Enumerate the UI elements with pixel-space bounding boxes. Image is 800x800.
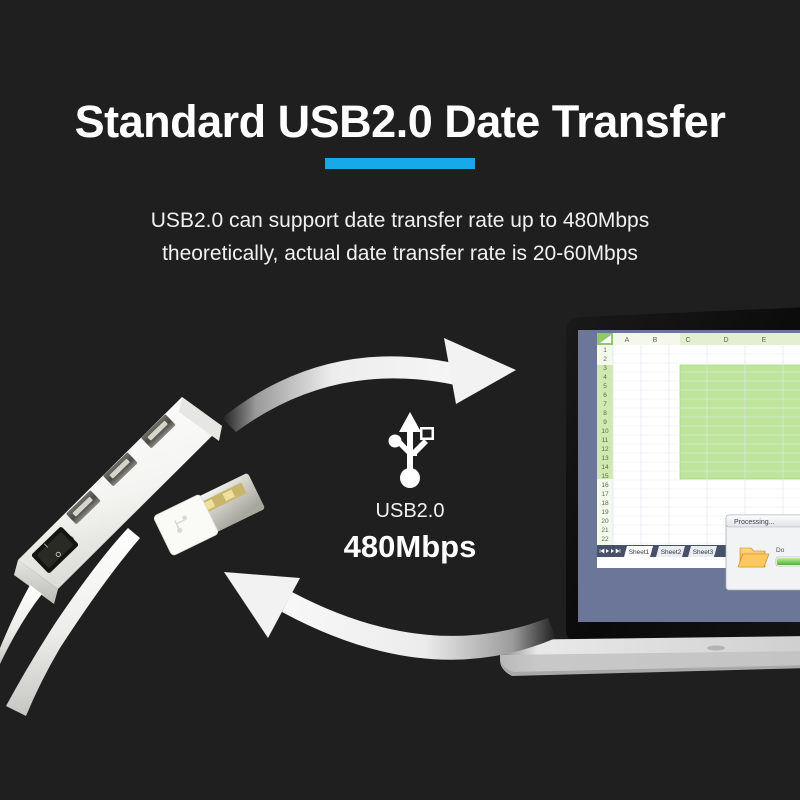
hub-cable [0,585,42,664]
promo-banner: Standard USB2.0 Date Transfer USB2.0 can… [0,0,800,800]
usb-badge: USB2.0 480Mbps [330,412,490,565]
usb-speed-label: 480Mbps [330,529,490,565]
usb-standard-label: USB2.0 [330,500,490,523]
usb-hub-device: I O [0,0,800,800]
usb-trident-icon [382,412,438,494]
